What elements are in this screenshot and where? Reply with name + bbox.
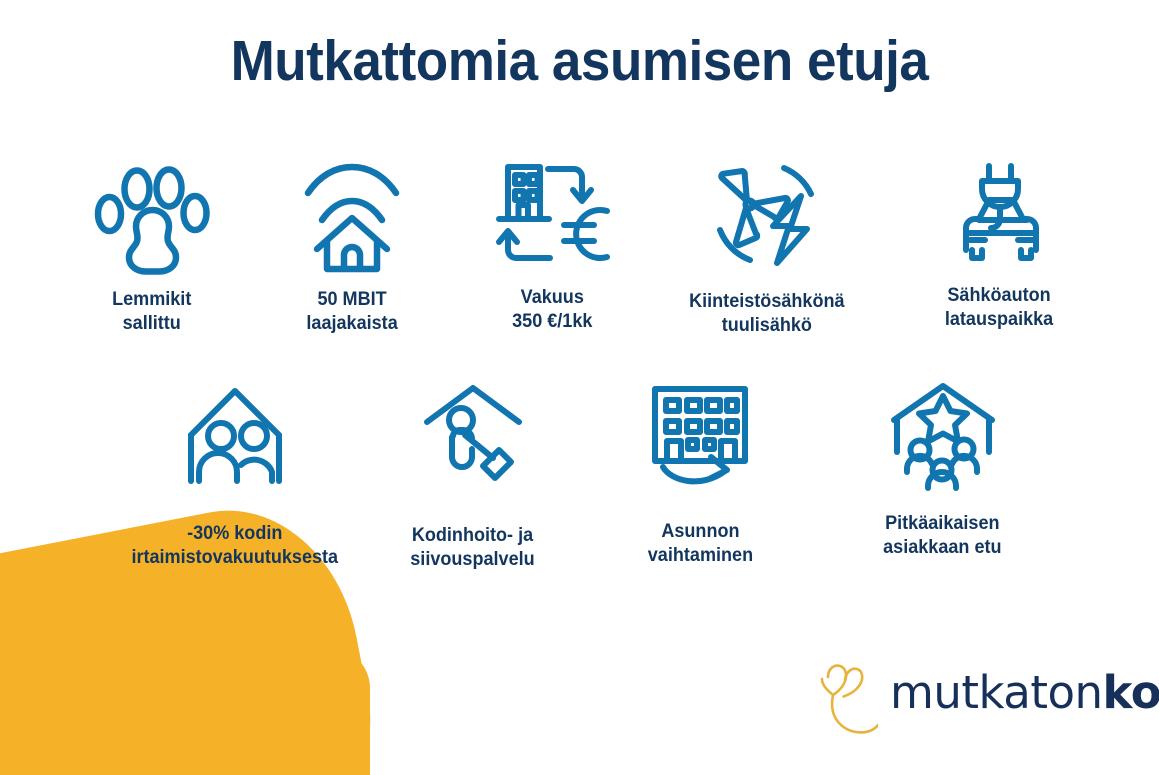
page-title: Mutkattomia asumisen etuja bbox=[41, 28, 1119, 94]
paw-print-icon bbox=[94, 160, 210, 278]
benefit-item-cleaning-service[interactable]: Kodinhoito- ja siivouspalvelu bbox=[360, 378, 585, 573]
benefit-item-pets[interactable]: Lemmikit sallittu bbox=[52, 160, 252, 337]
benefit-item-wind-power[interactable]: Kiinteistösähkönä tuulisähkö bbox=[652, 160, 882, 339]
wind-turbine-lightning-icon bbox=[706, 160, 828, 272]
brand-name-bold: koti bbox=[1103, 666, 1159, 719]
slide-canvas: Mutkattomia asumisen etuja Lemmikit sall… bbox=[0, 0, 1159, 775]
benefit-item-deposit[interactable]: Vakuus 350 €/1kk bbox=[452, 160, 652, 335]
house-star-family-icon bbox=[886, 378, 1000, 496]
orange-blob-shape-fill bbox=[0, 648, 370, 775]
benefit-label: Kiinteistösähkönä tuulisähkö bbox=[689, 290, 844, 339]
brand-logo[interactable]: mutkatonkoti bbox=[818, 655, 1159, 741]
benefit-label: Pitkäaikaisen asiakkaan etu bbox=[883, 512, 1001, 561]
benefit-label: Lemmikit sallittu bbox=[112, 288, 191, 337]
benefit-item-insurance-discount[interactable]: -30% kodin irtaimistovakuutuksesta bbox=[110, 378, 360, 571]
building-euro-exchange-icon bbox=[490, 160, 615, 270]
benefit-item-broadband[interactable]: 50 MBIT laajakaista bbox=[252, 160, 452, 337]
benefit-item-ev-charging[interactable]: Sähköauton latauspaikka bbox=[882, 160, 1117, 333]
benefit-item-loyalty[interactable]: Pitkäaikaisen asiakkaan etu bbox=[815, 378, 1070, 561]
brand-name-light: mutkaton bbox=[890, 666, 1103, 719]
benefit-label: -30% kodin irtaimistovakuutuksesta bbox=[132, 522, 339, 571]
apartment-swap-icon bbox=[647, 378, 753, 496]
benefits-row-1: Lemmikit sallittu 50 MBIT laajakaista bbox=[52, 160, 1117, 339]
benefit-label: Asunnon vaihtaminen bbox=[647, 520, 752, 569]
benefit-label: Vakuus 350 €/1kk bbox=[512, 286, 592, 335]
benefit-label: Kodinhoito- ja siivouspalvelu bbox=[410, 524, 534, 573]
benefit-item-apartment-swap[interactable]: Asunnon vaihtaminen bbox=[585, 378, 815, 569]
wifi-house-icon bbox=[300, 160, 404, 278]
benefits-row-2: -30% kodin irtaimistovakuutuksesta Kodin… bbox=[110, 378, 1070, 573]
electric-car-charging-icon bbox=[944, 160, 1056, 270]
benefit-label: Sähköauton latauspaikka bbox=[945, 284, 1053, 333]
benefit-label: 50 MBIT laajakaista bbox=[306, 288, 397, 337]
brand-wordmark: mutkatonkoti bbox=[890, 666, 1159, 719]
house-two-people-icon bbox=[179, 378, 291, 498]
cleaning-person-roof-icon bbox=[421, 378, 525, 494]
heart-swirl-icon bbox=[818, 655, 878, 741]
